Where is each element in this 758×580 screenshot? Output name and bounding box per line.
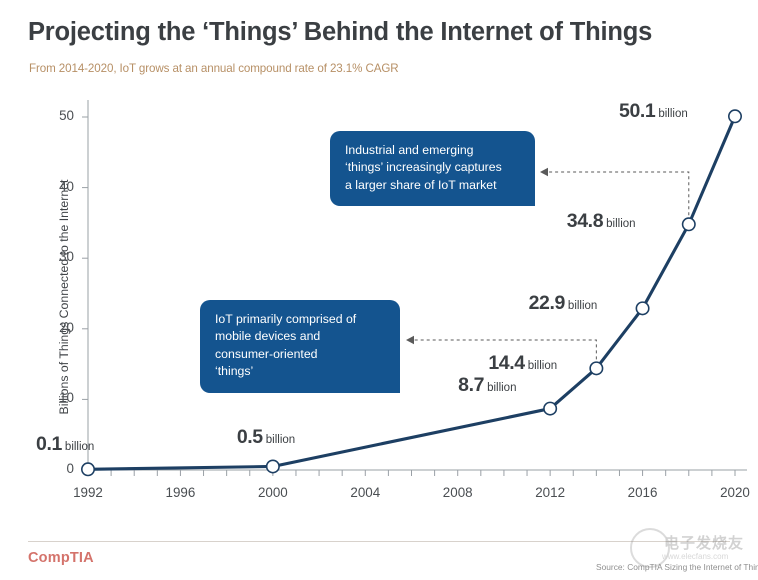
footer-divider — [28, 541, 730, 542]
data-point-unit: billion — [266, 434, 295, 446]
data-point-value: 50.1 — [619, 100, 655, 122]
callout-line: IoT primarily comprised of — [215, 311, 384, 328]
x-tick-label: 2004 — [335, 485, 395, 500]
chart-canvas — [0, 0, 758, 530]
callout-line: ‘things’ — [215, 363, 384, 380]
data-point-label: 50.1billion — [619, 102, 688, 122]
callout-industrial: Industrial and emerging‘things’ increasi… — [330, 131, 535, 206]
x-tick-label: 2020 — [705, 485, 758, 500]
data-point-label: 0.5billion — [237, 428, 295, 448]
x-tick-label: 1992 — [58, 485, 118, 500]
data-point-unit: billion — [606, 218, 635, 230]
data-point-unit: billion — [568, 300, 597, 312]
data-point-value: 14.4 — [488, 352, 524, 374]
x-tick-label: 2008 — [428, 485, 488, 500]
y-tick-label: 50 — [40, 108, 74, 123]
data-point-label: 22.9billion — [529, 294, 598, 314]
data-point-label: 0.1billion — [36, 435, 94, 455]
x-tick-label: 2000 — [243, 485, 303, 500]
watermark-en-text: www.elecfans.com — [662, 552, 728, 561]
data-point-value: 8.7 — [458, 374, 484, 396]
x-tick-label: 2016 — [613, 485, 673, 500]
x-tick-label: 1996 — [150, 485, 210, 500]
chart-page: Projecting the ‘Things’ Behind the Inter… — [0, 0, 758, 580]
data-point-label: 14.4billion — [488, 354, 557, 374]
y-tick-label: 40 — [40, 179, 74, 194]
data-point-unit: billion — [658, 108, 687, 120]
y-tick-label: 30 — [40, 249, 74, 264]
data-point-unit: billion — [487, 382, 516, 394]
callout-line: Industrial and emerging — [345, 142, 519, 159]
callout-line: ‘things’ increasingly captures — [345, 159, 519, 176]
source-note: Source: CompTIA Sizing the Internet of T… — [596, 562, 758, 572]
x-tick-label: 2012 — [520, 485, 580, 500]
callout-line: mobile devices and — [215, 328, 384, 345]
data-point-label: 34.8billion — [567, 212, 636, 232]
data-point-value: 34.8 — [567, 210, 603, 232]
callout-line: a larger share of IoT market — [345, 177, 519, 194]
data-point-value: 0.5 — [237, 426, 263, 448]
data-point-value: 0.1 — [36, 433, 62, 455]
callout-line: consumer-oriented — [215, 346, 384, 363]
data-point-value: 22.9 — [529, 292, 565, 314]
y-tick-label: 10 — [40, 390, 74, 405]
callout-mobile: IoT primarily comprised ofmobile devices… — [200, 300, 400, 393]
watermark-cn-text: 电子发烧友 — [664, 532, 744, 553]
data-point-unit: billion — [65, 441, 94, 453]
data-point-label: 8.7billion — [458, 376, 516, 396]
chart-plot-area: Billions of Things Connected to the Inte… — [0, 0, 758, 530]
data-point-unit: billion — [528, 360, 557, 372]
y-tick-label: 20 — [40, 320, 74, 335]
comptia-logo: CompTIA — [28, 550, 94, 566]
y-tick-label: 0 — [40, 461, 74, 476]
